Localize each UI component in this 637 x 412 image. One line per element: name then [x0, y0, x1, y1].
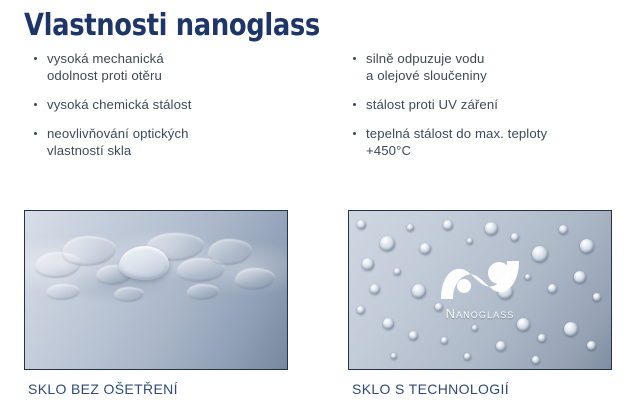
water-droplet [511, 233, 519, 241]
caption-untreated-glass: SKLO BEZ OŠETŘENÍ [28, 381, 178, 397]
feature-text-line2: vlastností skla [47, 142, 313, 159]
water-droplet [357, 220, 366, 229]
page-title: Vlastnosti nanoglass [24, 7, 320, 45]
treated-glass-image: Nanoglass [348, 210, 612, 370]
water-droplet [394, 268, 401, 275]
water-droplet [441, 337, 448, 344]
nanoglass-logo: Nanoglass [405, 255, 555, 321]
list-item: tepelná stálost do max. teploty +450°C [352, 125, 622, 159]
bullet-dot-icon [34, 57, 37, 60]
untreated-glass-image [24, 210, 288, 370]
water-droplet [409, 331, 418, 340]
glass-surface [25, 211, 287, 369]
water-droplet [496, 341, 506, 351]
list-item: vysoká chemická stálost [33, 96, 313, 113]
water-droplet [357, 306, 365, 314]
bullet-dot-icon [353, 57, 356, 60]
features-section: vysoká mechanická odolnost proti otěru v… [0, 50, 637, 190]
feature-list-right: silně odpuzuje vodu a olejové sloučeniny… [352, 50, 622, 159]
nanoglass-wordmark: Nanoglass [405, 306, 555, 321]
water-droplet [407, 224, 414, 231]
glass-surface: Nanoglass [349, 211, 611, 369]
water-droplet [485, 222, 498, 235]
feature-text-line2: odolnost proti otěru [47, 67, 313, 84]
feature-text-line1: neovlivňování optických [47, 125, 313, 142]
feature-text-line1: vysoká mechanická [47, 50, 313, 67]
feature-list-left: vysoká mechanická odolnost proti otěru v… [33, 50, 313, 159]
bullet-dot-icon [34, 132, 37, 135]
water-droplet [574, 271, 586, 283]
water-droplet [464, 353, 471, 360]
water-droplet [391, 353, 397, 359]
feature-text-line1: stálost proti UV záření [366, 96, 622, 113]
feature-text-line1: vysoká chemická stálost [47, 96, 313, 113]
water-droplet [532, 356, 540, 364]
water-droplet [472, 325, 478, 331]
water-droplet [564, 322, 578, 336]
water-droplet [498, 284, 513, 299]
feature-text-line2: a olejové sloučeniny [366, 67, 622, 84]
water-droplet [548, 284, 557, 293]
list-item: vysoká mechanická odolnost proti otěru [33, 50, 313, 84]
features-column-right: silně odpuzuje vodu a olejové sloučeniny… [352, 50, 622, 159]
water-droplet [412, 284, 426, 298]
feature-text-line1: silně odpuzuje vodu [366, 50, 622, 67]
water-droplet [467, 238, 473, 244]
water-droplet [362, 258, 374, 270]
bullet-dot-icon [353, 103, 356, 106]
water-droplet [380, 236, 395, 251]
water-droplet [370, 284, 380, 294]
bullet-dot-icon [353, 132, 356, 135]
list-item: silně odpuzuje vodu a olejové sloučeniny [352, 50, 622, 84]
water-puddle [119, 246, 169, 280]
water-droplet [559, 225, 568, 234]
water-droplet [443, 220, 453, 230]
water-droplet [580, 239, 594, 253]
water-droplet [435, 303, 443, 311]
water-droplet [517, 318, 530, 331]
features-column-left: vysoká mechanická odolnost proti otěru v… [33, 50, 313, 159]
list-item: stálost proti UV záření [352, 96, 622, 113]
water-droplet [420, 243, 431, 254]
water-droplet [538, 334, 546, 342]
slide-root: Vlastnosti nanoglass vysoká mechanická o… [0, 0, 637, 412]
bullet-dot-icon [34, 103, 37, 106]
water-droplet [593, 293, 601, 301]
feature-text-line1: tepelná stálost do max. teploty [366, 125, 622, 142]
water-droplet [525, 274, 531, 280]
nanoglass-swoosh-n-icon [437, 255, 523, 305]
feature-text-line2: +450°C [366, 142, 622, 159]
water-droplet [383, 318, 394, 329]
list-item: neovlivňování optických vlastností skla [33, 125, 313, 159]
water-droplet [532, 246, 548, 262]
water-droplet [587, 341, 596, 350]
caption-treated-glass: SKLO S TECHNOLOGIÍ [352, 381, 509, 397]
